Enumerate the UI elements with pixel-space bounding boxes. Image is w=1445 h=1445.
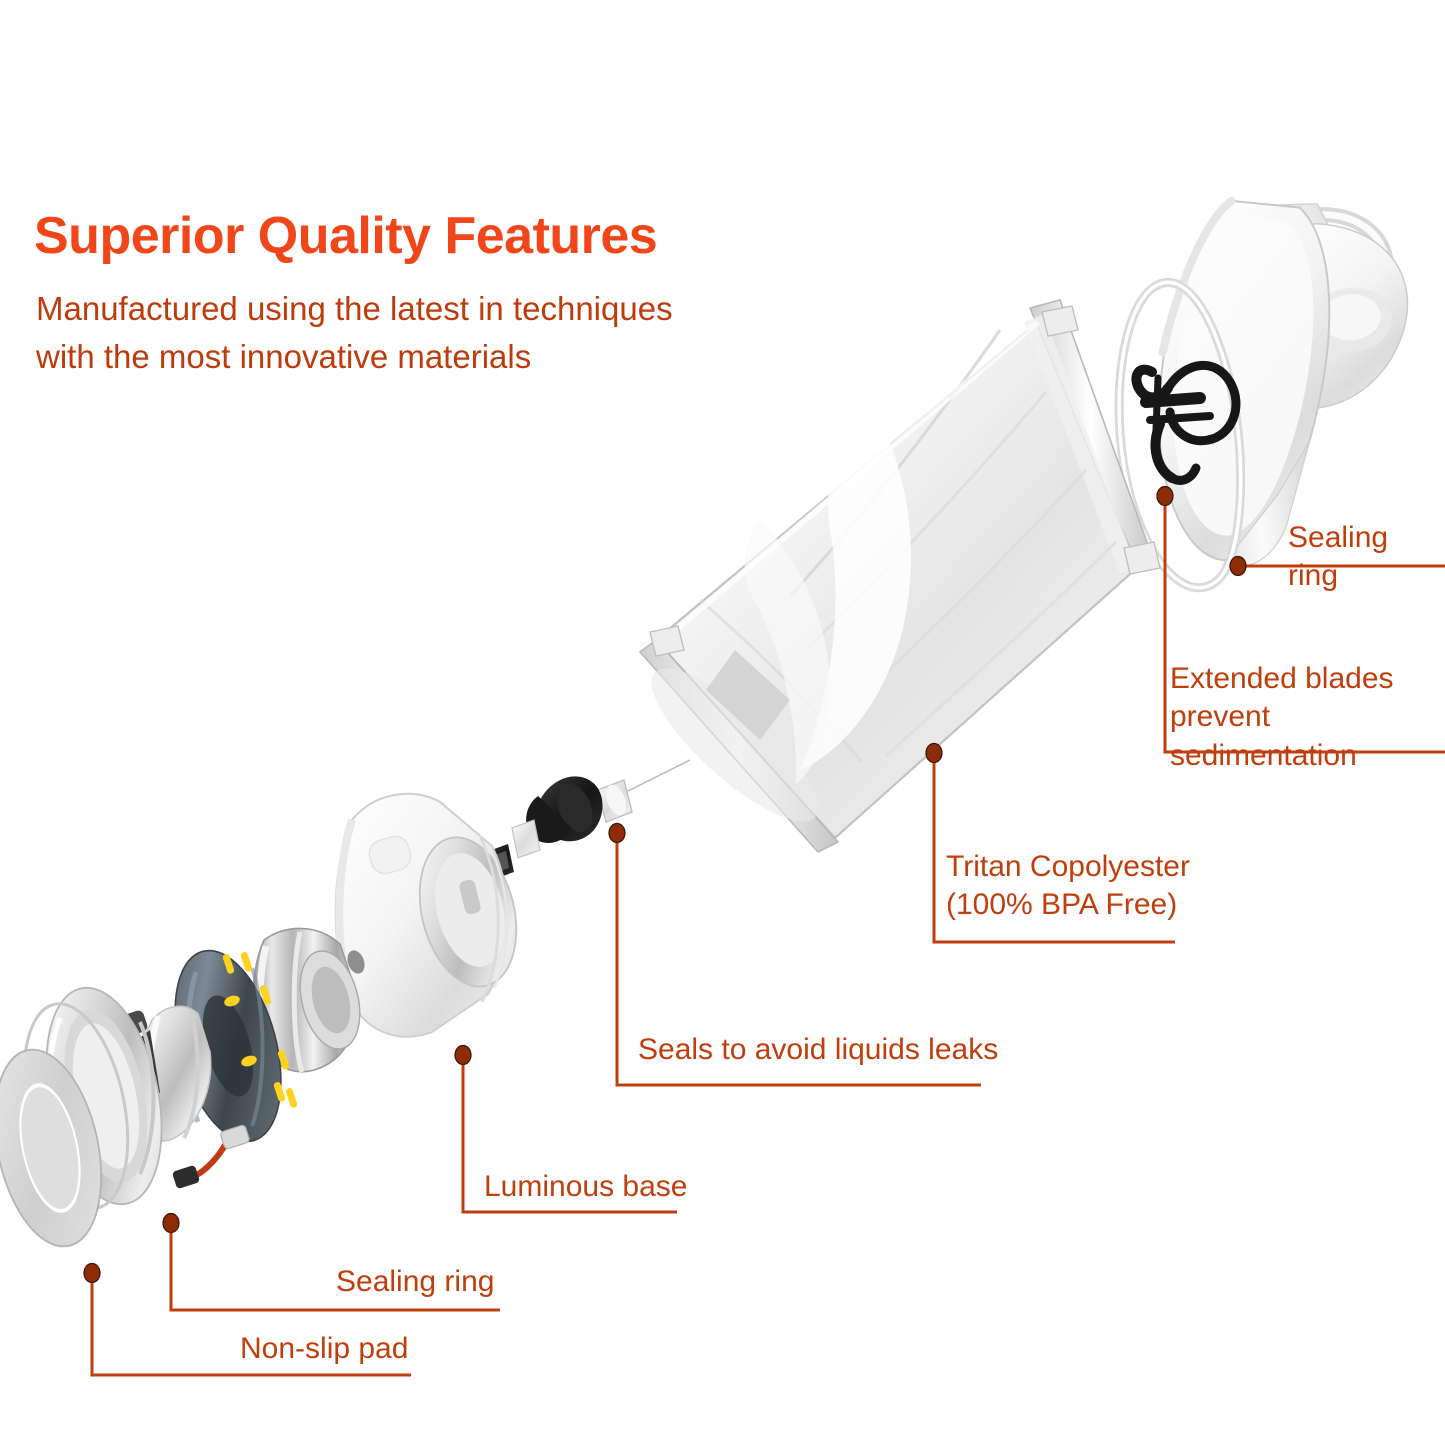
- page-subtitle: Manufactured using the latest in techniq…: [36, 285, 673, 381]
- callout-sealing-ring-top: Sealing ring: [1288, 519, 1445, 596]
- callout-non-slip-pad: Non-slip pad: [240, 1330, 408, 1368]
- callout-seals-liquids: Seals to avoid liquids leaks: [638, 1031, 998, 1069]
- part-luminous-base-housing: [336, 794, 531, 1037]
- part-tritan-jar: [632, 300, 1160, 852]
- callout-extended-blades: Extended blades prevent sedimentation: [1170, 660, 1445, 775]
- callout-sealing-ring-bottom: Sealing ring: [336, 1263, 494, 1301]
- infographic-page: Superior Quality Features Manufactured u…: [0, 0, 1445, 1445]
- page-title: Superior Quality Features: [34, 206, 657, 266]
- callout-luminous-base: Luminous base: [484, 1168, 687, 1206]
- callout-tritan-copolyester: Tritan Copolyester (100% BPA Free): [946, 848, 1190, 925]
